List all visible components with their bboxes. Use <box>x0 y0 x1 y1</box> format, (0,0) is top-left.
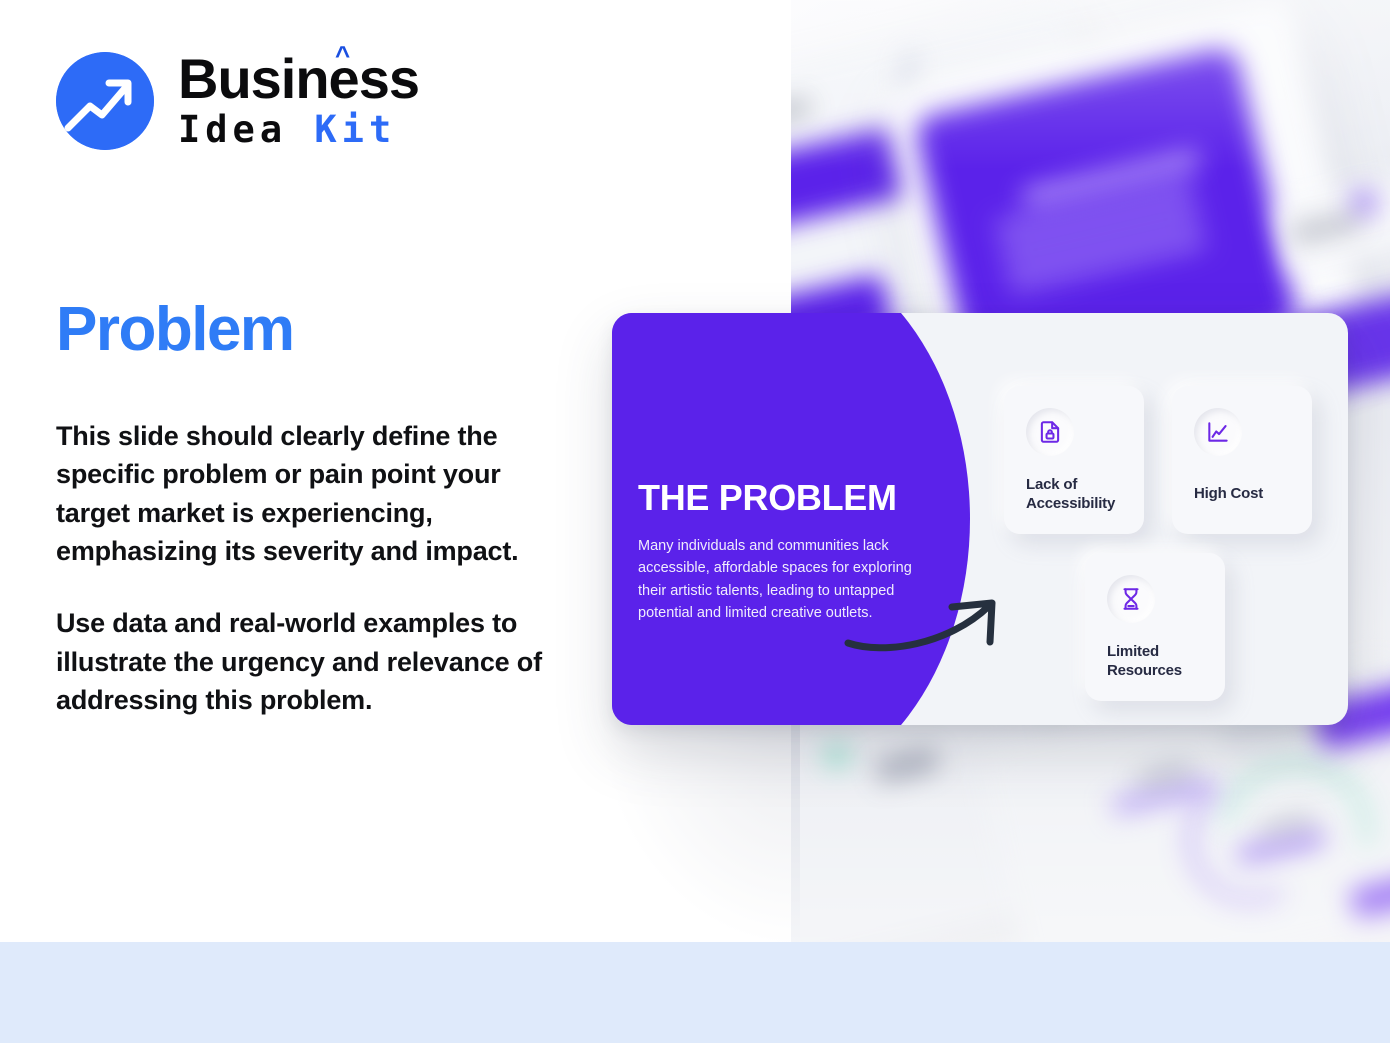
brand-logo[interactable]: Business ^ Idea Kit <box>56 52 419 151</box>
feature-card-label: Limited Resources <box>1107 643 1213 680</box>
brand-name-idea: Idea <box>178 108 287 151</box>
brand-name-line-2: Idea Kit <box>178 110 419 151</box>
hourglass-icon <box>1107 575 1155 623</box>
description-paragraph-2: Use data and real-world examples to illu… <box>56 604 566 719</box>
feature-card-label: Lack of Accessibility <box>1026 476 1132 513</box>
brand-name-business: Business <box>178 47 419 110</box>
circumflex-accent-icon: ^ <box>335 43 349 68</box>
line-chart-icon <box>1194 408 1242 456</box>
slide-preview-card[interactable]: THE PROBLEM Many individuals and communi… <box>612 313 1348 725</box>
brand-name-kit: Kit <box>314 108 396 151</box>
feature-card-label: High Cost <box>1194 485 1300 504</box>
feature-card-lack-of-accessibility[interactable]: Lack of Accessibility <box>1004 386 1144 534</box>
curved-arrow-up-right-icon <box>844 593 1008 660</box>
purple-blob-shape <box>612 313 970 725</box>
card-drop-shadow <box>600 700 800 942</box>
description-copy: This slide should clearly define the spe… <box>56 417 566 719</box>
document-lock-icon <box>1026 408 1074 456</box>
slide-title: THE PROBLEM <box>638 477 897 519</box>
feature-card-limited-resources[interactable]: Limited Resources <box>1085 553 1225 701</box>
brand-name-line-1: Business ^ <box>178 52 419 107</box>
page-title: Problem <box>56 294 294 365</box>
description-paragraph-1: This slide should clearly define the spe… <box>56 417 566 570</box>
slide-template-preview-page: Business ^ Idea Kit Problem This slide s… <box>0 0 1390 1043</box>
growth-chart-circle-icon <box>56 52 154 150</box>
feature-card-high-cost[interactable]: High Cost <box>1172 386 1312 534</box>
bottom-accent-strip <box>0 942 1390 1043</box>
